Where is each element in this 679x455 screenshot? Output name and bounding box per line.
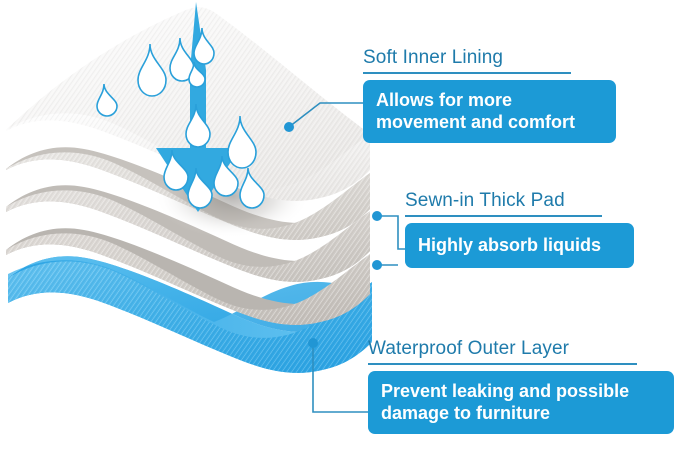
callout-underline-waterproof-outer-layer [368, 363, 637, 365]
callout-sewn-in-thick-pad: Sewn-in Thick Pad Highly absorb liquids [405, 189, 634, 268]
callout-underline-sewn-in-thick-pad [405, 215, 602, 217]
callout-body-line-1-waterproof-outer-layer: Prevent leaking and possible [381, 380, 662, 402]
callout-body-line-1-sewn-in-thick-pad: Highly absorb liquids [418, 234, 622, 256]
connector-dot-soft-inner-lining [284, 122, 294, 132]
callout-soft-inner-lining: Soft Inner Lining Allows for more moveme… [363, 46, 616, 143]
callout-body-line-2-waterproof-outer-layer: damage to furniture [381, 402, 662, 424]
callout-heading-sewn-in-thick-pad: Sewn-in Thick Pad [405, 189, 634, 212]
connector-dot-waterproof-outer-layer [308, 338, 318, 348]
callout-body-line-2-soft-inner-lining: movement and comfort [376, 111, 604, 133]
connector-dot-thick-pad-lower [372, 260, 382, 270]
callout-body-line-1-soft-inner-lining: Allows for more [376, 89, 604, 111]
callout-heading-soft-inner-lining: Soft Inner Lining [363, 46, 616, 69]
callout-waterproof-outer-layer: Waterproof Outer Layer Prevent leaking a… [368, 337, 674, 434]
layered-pad-infographic: Soft Inner Lining Allows for more moveme… [0, 0, 679, 455]
callout-heading-waterproof-outer-layer: Waterproof Outer Layer [368, 337, 674, 360]
callout-box-waterproof-outer-layer: Prevent leaking and possible damage to f… [368, 371, 674, 434]
callout-underline-soft-inner-lining [363, 72, 571, 74]
callout-box-sewn-in-thick-pad: Highly absorb liquids [405, 223, 634, 268]
connector-dot-thick-pad-upper [372, 211, 382, 221]
callout-box-soft-inner-lining: Allows for more movement and comfort [363, 80, 616, 143]
